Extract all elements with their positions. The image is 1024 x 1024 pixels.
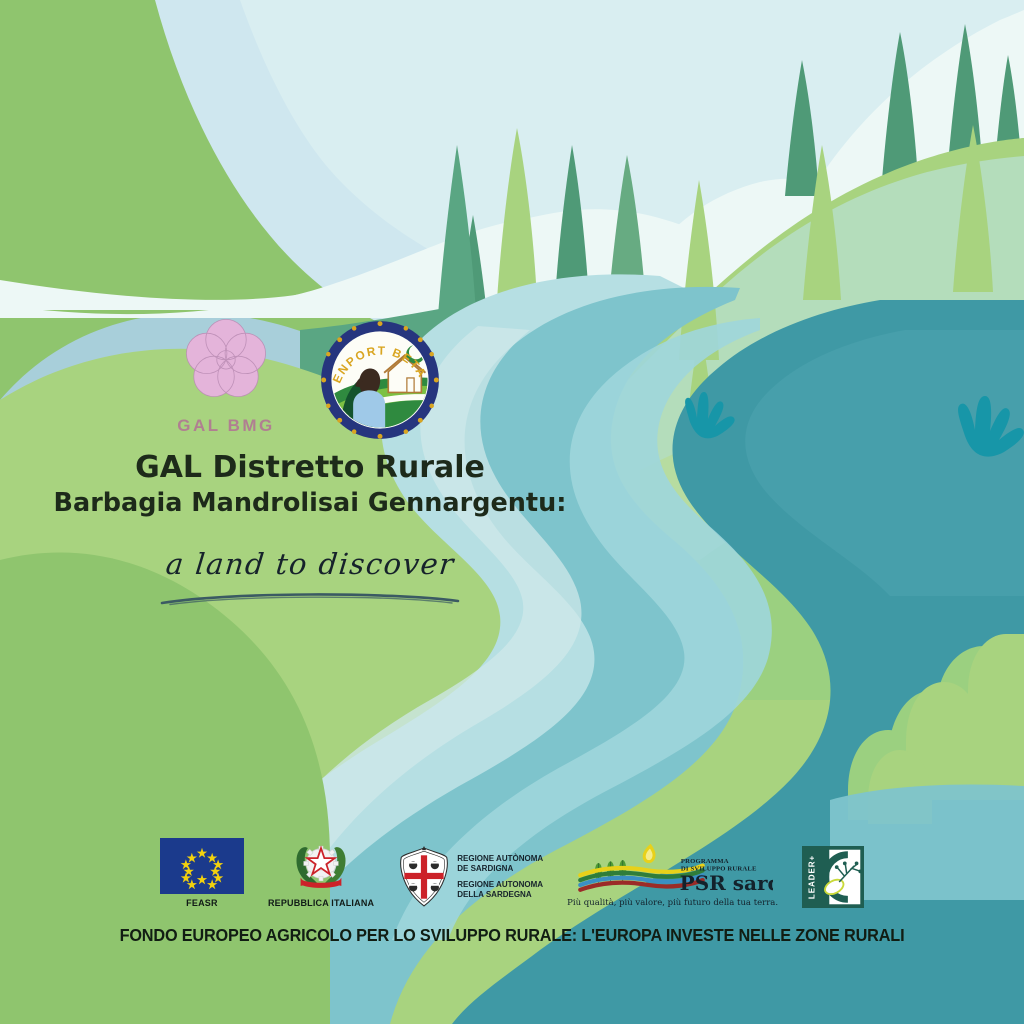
brand-logo-row: GAL BMG bbox=[168, 312, 442, 442]
enport-beta-seal[interactable]: ENPORT BETA bbox=[318, 318, 442, 442]
ras-line-2: DE SARDIGNA bbox=[457, 864, 543, 874]
ras-line-4: DELLA SARDEGNA bbox=[457, 890, 543, 900]
tagline-underline-stroke bbox=[160, 591, 460, 607]
gal-bmg-flower-mark bbox=[180, 312, 272, 404]
leader-vertical-text: LEADER+ bbox=[807, 855, 816, 899]
gal-bmg-label: GAL BMG bbox=[177, 416, 274, 436]
psr-sardegna-mark: PROGRAMMA DI SVILUPPO RURALE PSR sardegn… bbox=[573, 840, 773, 896]
psr-wordmark: PSR sardegna bbox=[679, 871, 772, 895]
poster-canvas: GAL BMG bbox=[0, 0, 1024, 1024]
feasr-eu-flag bbox=[160, 838, 244, 894]
repubblica-italiana-emblem bbox=[290, 838, 352, 894]
tagline-text: a land to discover bbox=[164, 547, 456, 581]
funding-statement: FONDO EUROPEO AGRICOLO PER LO SVILUPPO R… bbox=[36, 925, 988, 946]
ras-row: REGIONE AUTÒNOMA DE SARDIGNA REGIONE AUT… bbox=[398, 846, 543, 908]
title-block: GAL Distretto Rurale Barbagia Mandrolisa… bbox=[0, 450, 620, 613]
leader-logo: LEADER+ bbox=[802, 846, 864, 908]
leader-mark: LEADER+ bbox=[802, 846, 864, 908]
repubblica-italiana-caption: REPUBBLICA ITALIANA bbox=[268, 898, 374, 908]
funding-logos-row: FEASR bbox=[0, 838, 1024, 908]
psr-claim: Più qualità, più valore, più futuro dell… bbox=[567, 898, 778, 908]
tagline-wrap: a land to discover bbox=[0, 547, 620, 613]
gal-bmg-logo: GAL BMG bbox=[168, 312, 284, 436]
ras-line-3: REGIONE AUTONOMA bbox=[457, 880, 543, 890]
page-title: GAL Distretto Rurale bbox=[0, 450, 620, 485]
psr-kicker-1: PROGRAMMA bbox=[680, 858, 728, 865]
page-subtitle: Barbagia Mandrolisai Gennargentu: bbox=[0, 487, 620, 520]
feasr-caption: FEASR bbox=[186, 898, 218, 908]
ras-line-1: REGIONE AUTÒNOMA bbox=[457, 854, 543, 864]
ras-text-block: REGIONE AUTÒNOMA DE SARDIGNA REGIONE AUT… bbox=[457, 854, 543, 900]
regione-autonoma-sardegna-logo: REGIONE AUTÒNOMA DE SARDIGNA REGIONE AUT… bbox=[398, 846, 543, 908]
repubblica-italiana-logo: REPUBBLICA ITALIANA bbox=[268, 838, 374, 908]
sardegna-coat-of-arms bbox=[398, 846, 450, 908]
feasr-eu-flag-logo: FEASR bbox=[160, 838, 244, 908]
psr-sardegna-logo: PROGRAMMA DI SVILUPPO RURALE PSR sardegn… bbox=[567, 840, 778, 908]
